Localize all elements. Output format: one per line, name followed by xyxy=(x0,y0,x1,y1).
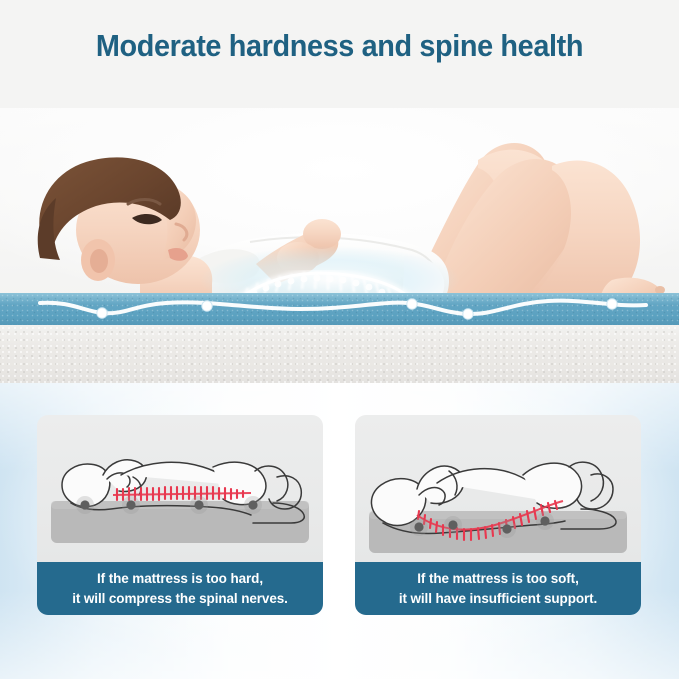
too-soft-panel: If the mattress is too soft, it will hav… xyxy=(355,415,641,615)
mattress-base-layer xyxy=(0,325,679,383)
too-hard-caption-line2: it will compress the spinal nerves. xyxy=(72,589,288,609)
mattress-stack xyxy=(0,293,679,383)
comparison-section: If the mattress is too hard, it will com… xyxy=(0,383,679,679)
too-hard-caption: If the mattress is too hard, it will com… xyxy=(37,562,323,615)
too-soft-caption-line1: If the mattress is too soft, xyxy=(417,569,578,589)
baby-on-hard-mattress-diagram xyxy=(37,415,323,562)
too-soft-figure xyxy=(355,415,641,562)
too-hard-caption-line1: If the mattress is too hard, xyxy=(97,569,263,589)
too-hard-panel: If the mattress is too hard, it will com… xyxy=(37,415,323,615)
hero-section xyxy=(0,108,679,383)
product-infographic: Moderate hardness and spine health xyxy=(0,0,679,679)
mattress-support-line xyxy=(0,287,679,327)
baby-on-soft-mattress-diagram xyxy=(355,415,641,562)
header-band: Moderate hardness and spine health xyxy=(0,0,679,108)
too-hard-figure xyxy=(37,415,323,562)
too-soft-caption-line2: it will have insufficient support. xyxy=(399,589,597,609)
page-title: Moderate hardness and spine health xyxy=(24,28,655,64)
too-soft-caption: If the mattress is too soft, it will hav… xyxy=(355,562,641,615)
